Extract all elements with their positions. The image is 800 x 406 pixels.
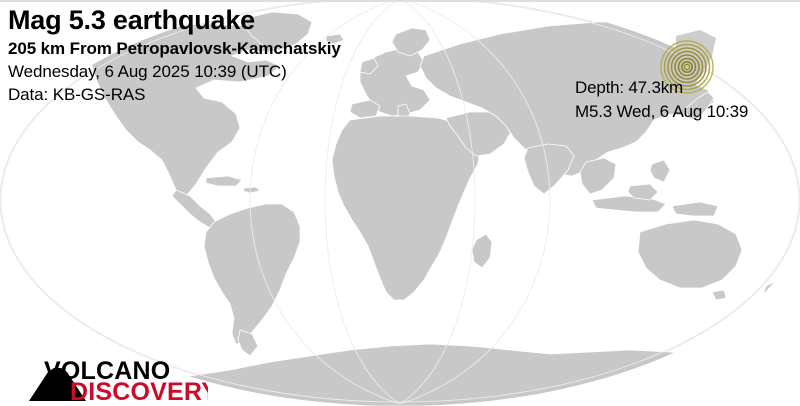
earthquake-info-right: Depth: 47.3km M5.3 Wed, 6 Aug 10:39 [575, 76, 800, 124]
page-title: Mag 5.3 earthquake [8, 4, 341, 37]
volcanodiscovery-logo[interactable]: VOLCANO DISCOVERY [28, 352, 208, 402]
logo-word-discovery: DISCOVERY [70, 378, 208, 402]
data-source-label: Data: KB-GS-RAS [8, 83, 341, 106]
earthquake-map-card: Mag 5.3 earthquake 205 km From Petropavl… [0, 0, 800, 406]
earthquake-info-left: Mag 5.3 earthquake 205 km From Petropavl… [8, 4, 341, 106]
datetime-label: Wednesday, 6 Aug 2025 10:39 (UTC) [8, 60, 341, 83]
magnitude-summary-label: M5.3 Wed, 6 Aug 10:39 [575, 100, 800, 124]
top-border-rule [0, 0, 800, 2]
location-label: 205 km From Petropavlovsk-Kamchatskiy [8, 37, 341, 60]
volcanodiscovery-logo-graphic: VOLCANO DISCOVERY [28, 352, 208, 402]
depth-label: Depth: 47.3km [575, 76, 800, 100]
